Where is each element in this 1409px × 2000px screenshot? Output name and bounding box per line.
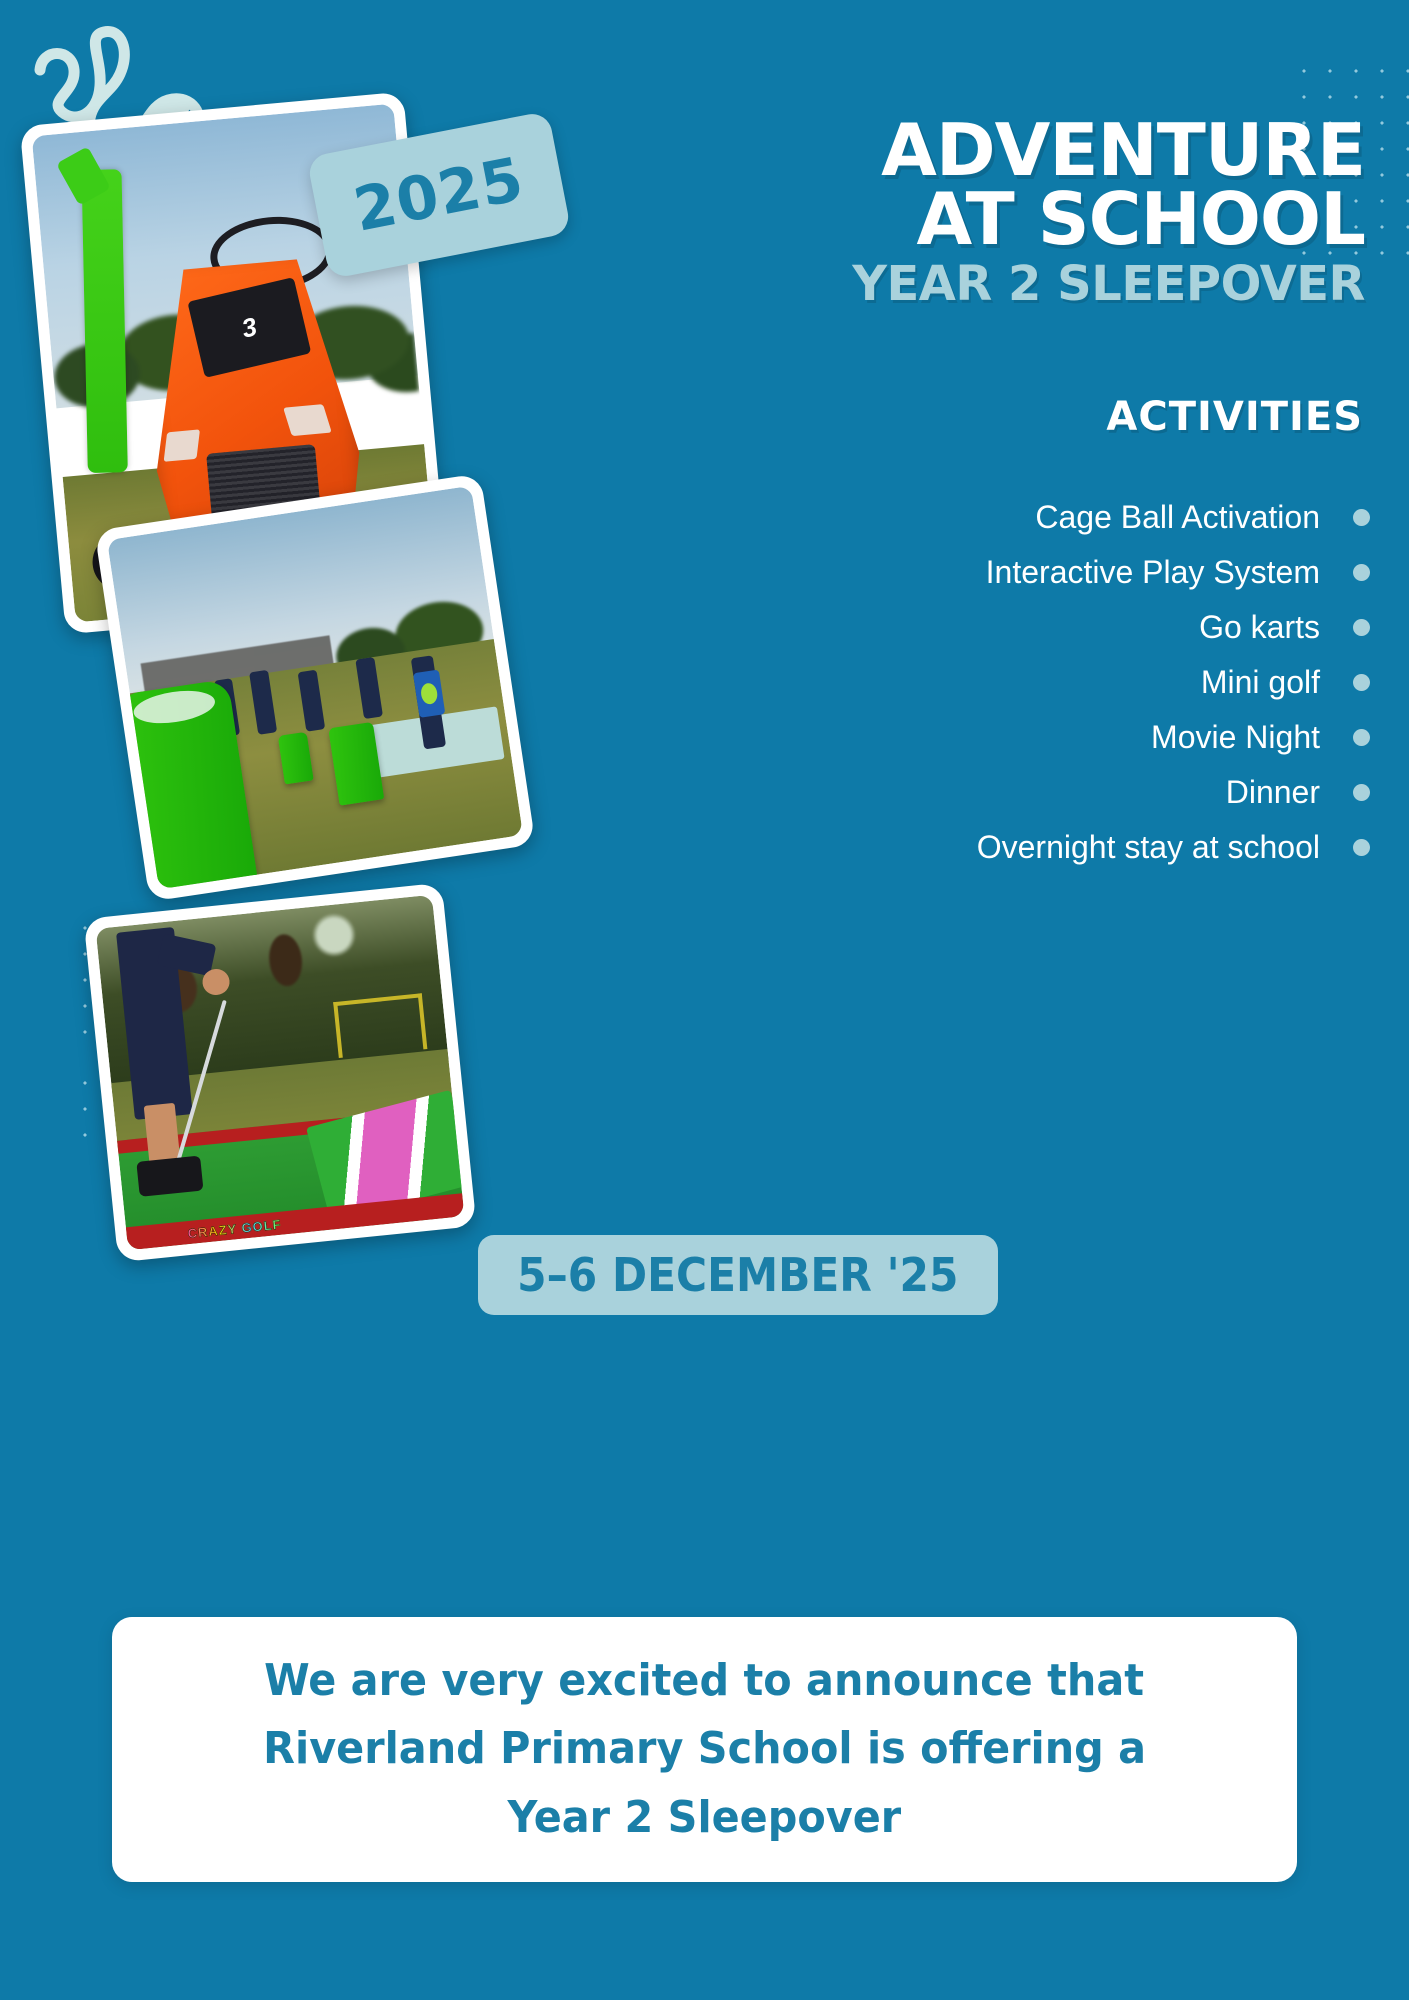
bullet-icon <box>1353 674 1370 691</box>
bullet-icon <box>1353 509 1370 526</box>
year-badge-label: 2025 <box>348 144 529 245</box>
bullet-icon <box>1353 839 1370 856</box>
goal-post <box>333 993 427 1057</box>
title-line-2: AT SCHOOL <box>725 185 1365 254</box>
list-item: Movie Night <box>670 710 1370 765</box>
inflatable-tube-man <box>82 169 128 472</box>
page-subtitle: YEAR 2 SLEEPOVER <box>725 254 1365 314</box>
list-item: Cage Ball Activation <box>670 490 1370 545</box>
announcement-card: We are very excited to announce that Riv… <box>112 1617 1297 1882</box>
activity-label: Go karts <box>1199 609 1320 646</box>
activity-label: Overnight stay at school <box>977 829 1320 866</box>
list-item: Interactive Play System <box>670 545 1370 600</box>
cage-ball-photo <box>94 473 535 902</box>
activities-heading: ACTIVITIES <box>723 394 1363 440</box>
date-badge: 5–6 DECEMBER '25 <box>478 1235 998 1315</box>
kart-headlight-left <box>164 430 200 463</box>
activity-label: Cage Ball Activation <box>1035 499 1320 536</box>
activity-label: Movie Night <box>1151 719 1320 756</box>
announcement-line-3: Year 2 Sleepover <box>508 1789 902 1847</box>
announcement-line-2: Riverland Primary School is offering a <box>263 1720 1146 1778</box>
kart-headlight-right <box>283 404 332 436</box>
bullet-icon <box>1353 619 1370 636</box>
bullet-icon <box>1353 784 1370 801</box>
activity-label: Dinner <box>1226 774 1320 811</box>
player-shoe <box>136 1155 203 1197</box>
mini-golf-photo: CRAZY GOLF <box>83 883 476 1263</box>
announcement-line-1: We are very excited to announce that <box>265 1652 1145 1710</box>
poster-canvas: 3 <box>0 0 1409 2000</box>
list-item: Dinner <box>670 765 1370 820</box>
list-item: Overnight stay at school <box>670 820 1370 875</box>
page-title: ADVENTURE AT SCHOOL YEAR 2 SLEEPOVER <box>725 116 1365 314</box>
bullet-icon <box>1353 564 1370 581</box>
activity-label: Mini golf <box>1201 664 1320 701</box>
bullet-icon <box>1353 729 1370 746</box>
list-item: Mini golf <box>670 655 1370 710</box>
date-badge-label: 5–6 DECEMBER '25 <box>517 1248 958 1302</box>
activity-label: Interactive Play System <box>986 554 1320 591</box>
activities-list: Cage Ball Activation Interactive Play Sy… <box>670 490 1370 875</box>
title-line-1: ADVENTURE <box>725 116 1365 185</box>
list-item: Go karts <box>670 600 1370 655</box>
